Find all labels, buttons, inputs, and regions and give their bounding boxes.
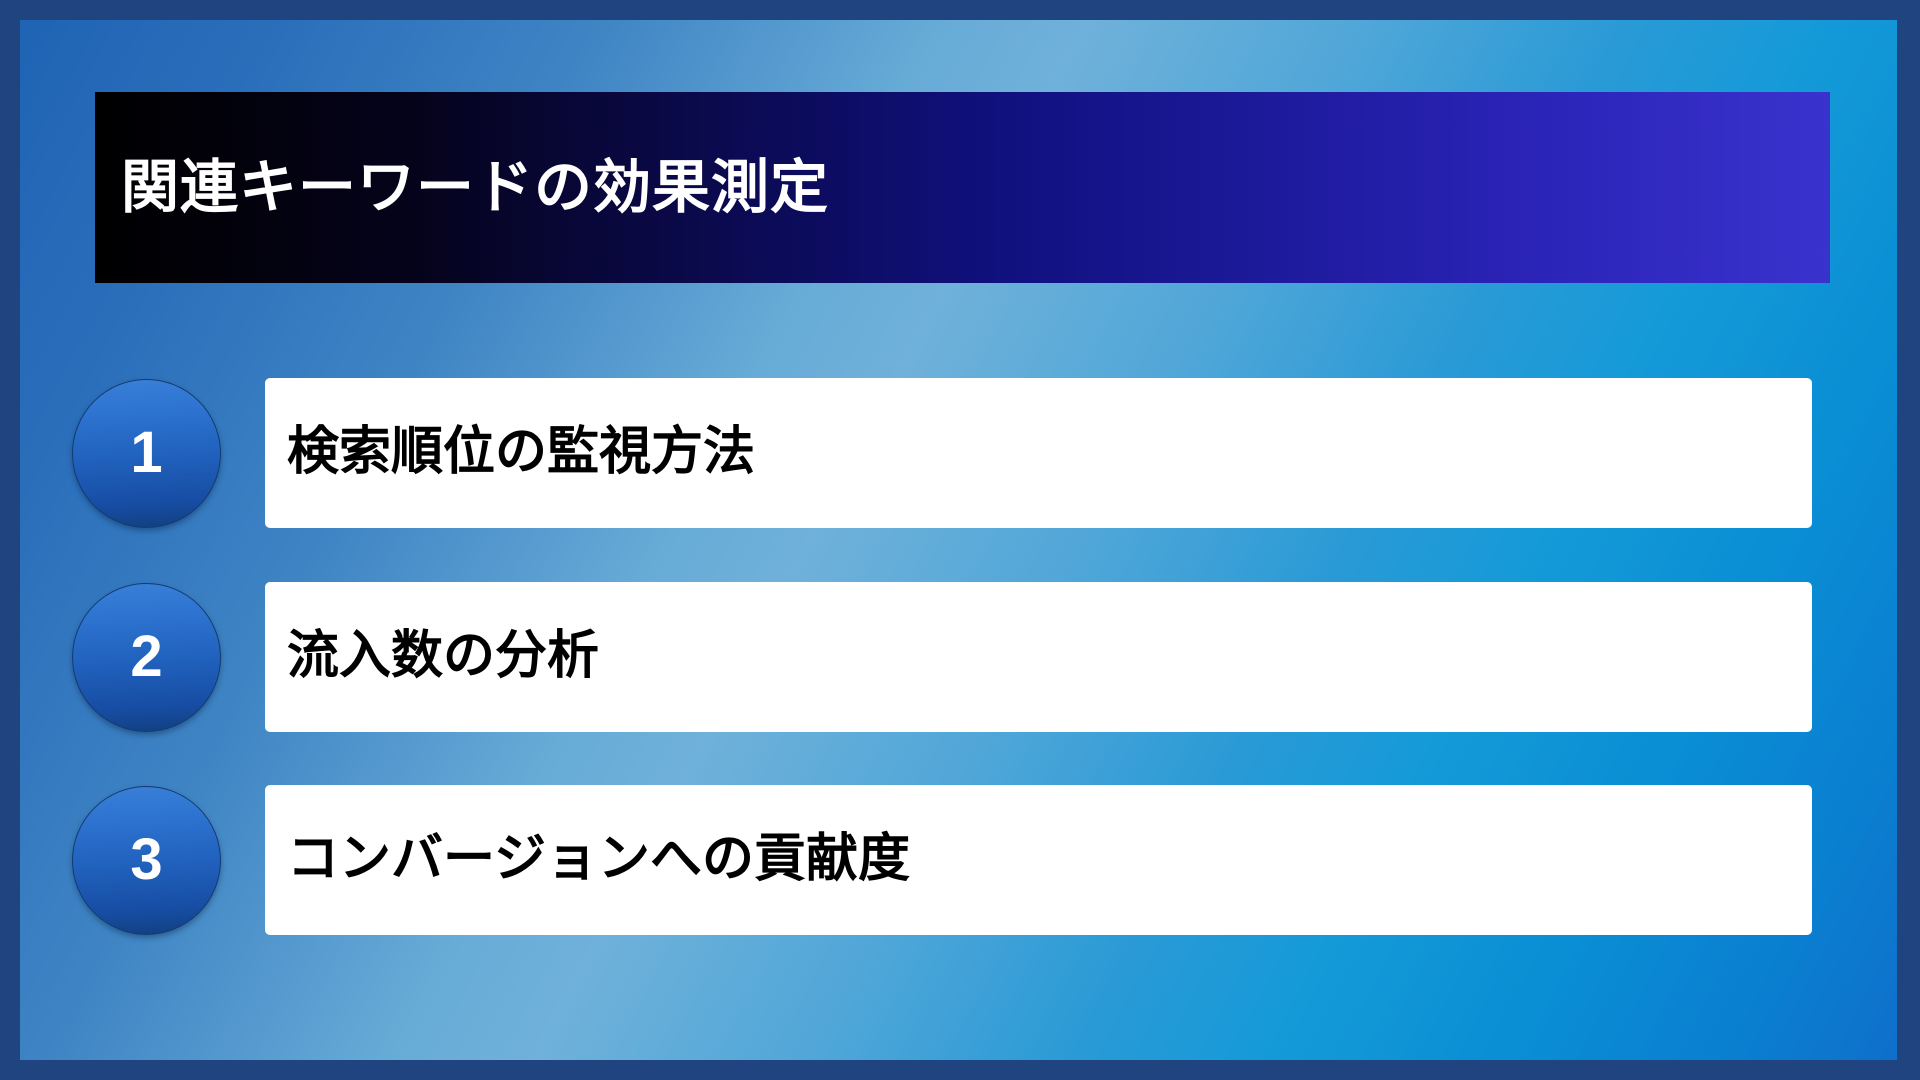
slide-canvas: 関連キーワードの効果測定 1 検索順位の監視方法 2 流入数の分析 [20,20,1897,1060]
list-item-label: 検索順位の監視方法 [287,423,755,483]
step-number-label: 2 [130,628,162,686]
list-item-card[interactable]: コンバージョンへの貢献度 [265,785,1812,935]
list-item-label: 流入数の分析 [287,627,599,687]
list-item[interactable]: 1 検索順位の監視方法 [72,378,1812,528]
slide-root: 関連キーワードの効果測定 1 検索順位の監視方法 2 流入数の分析 [0,0,1920,1080]
numbered-list: 1 検索順位の監視方法 2 流入数の分析 3 コンバージョン [20,20,1897,1060]
step-number-badge: 1 [72,379,221,528]
step-number-label: 1 [130,424,162,482]
step-number-badge: 2 [72,583,221,732]
list-item[interactable]: 2 流入数の分析 [72,582,1812,732]
step-number-badge: 3 [72,786,221,935]
list-item-label: コンバージョンへの貢献度 [287,830,910,890]
step-number-label: 3 [130,831,162,889]
list-item[interactable]: 3 コンバージョンへの貢献度 [72,785,1812,935]
list-item-card[interactable]: 流入数の分析 [265,582,1812,732]
list-item-card[interactable]: 検索順位の監視方法 [265,378,1812,528]
